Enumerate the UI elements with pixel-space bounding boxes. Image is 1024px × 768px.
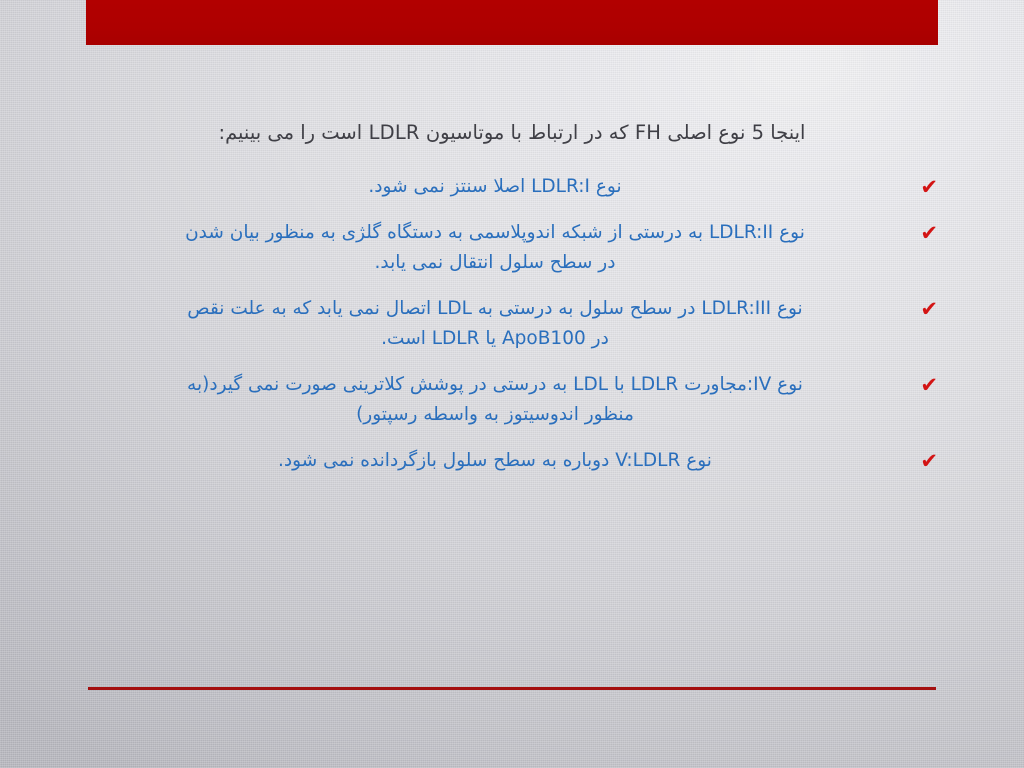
slide-canvas: اینجا 5 نوع اصلی FH که در ارتباط با موتا… bbox=[0, 0, 1024, 768]
list-item-line: نوع V:LDLR دوباره به سطح سلول بازگردانده… bbox=[86, 446, 904, 476]
checkmark-icon: ✔ bbox=[920, 295, 938, 323]
list-item: ✔ نوع LDLR:I اصلا سنتز نمی شود. bbox=[86, 172, 938, 202]
list-item-line: نوع LDLR:II به درستی از شبکه اندوپلاسمی … bbox=[86, 218, 904, 248]
checkmark-icon: ✔ bbox=[920, 219, 938, 247]
list-item-line: در ApoB100 یا LDLR است. bbox=[86, 324, 904, 354]
checkmark-icon: ✔ bbox=[920, 173, 938, 201]
list-item-text: نوع IV:مجاورت LDLR با LDL به درستی در پو… bbox=[86, 370, 904, 430]
list-item: ✔ نوع IV:مجاورت LDLR با LDL به درستی در … bbox=[86, 370, 938, 430]
list-item-line: نوع IV:مجاورت LDLR با LDL به درستی در پو… bbox=[86, 370, 904, 400]
list-item-text: نوع LDLR:II به درستی از شبکه اندوپلاسمی … bbox=[86, 218, 904, 278]
checkmark-icon: ✔ bbox=[920, 371, 938, 399]
list-item: ✔ نوع LDLR:II به درستی از شبکه اندوپلاسم… bbox=[86, 218, 938, 278]
list-item: ✔ نوع V:LDLR دوباره به سطح سلول بازگردان… bbox=[86, 446, 938, 476]
list-item: ✔ نوع LDLR:III در سطح سلول به درستی به L… bbox=[86, 294, 938, 354]
slide-content: اینجا 5 نوع اصلی FH که در ارتباط با موتا… bbox=[0, 0, 1024, 768]
list-item-text: نوع V:LDLR دوباره به سطح سلول بازگردانده… bbox=[86, 446, 904, 476]
list-item-line: نوع LDLR:I اصلا سنتز نمی شود. bbox=[86, 172, 904, 202]
list-item-line: منظور اندوسیتوز به واسطه رسپتور) bbox=[86, 400, 904, 430]
slide-title: اینجا 5 نوع اصلی FH که در ارتباط با موتا… bbox=[88, 118, 936, 148]
checkmark-icon: ✔ bbox=[920, 447, 938, 475]
list-item-text: نوع LDLR:I اصلا سنتز نمی شود. bbox=[86, 172, 904, 202]
bullet-list: ✔ نوع LDLR:I اصلا سنتز نمی شود. ✔ نوع LD… bbox=[86, 172, 938, 492]
list-item-line: نوع LDLR:III در سطح سلول به درستی به LDL… bbox=[86, 294, 904, 324]
list-item-text: نوع LDLR:III در سطح سلول به درستی به LDL… bbox=[86, 294, 904, 354]
list-item-line: در سطح سلول انتقال نمی یابد. bbox=[86, 248, 904, 278]
footer-divider bbox=[88, 687, 936, 690]
